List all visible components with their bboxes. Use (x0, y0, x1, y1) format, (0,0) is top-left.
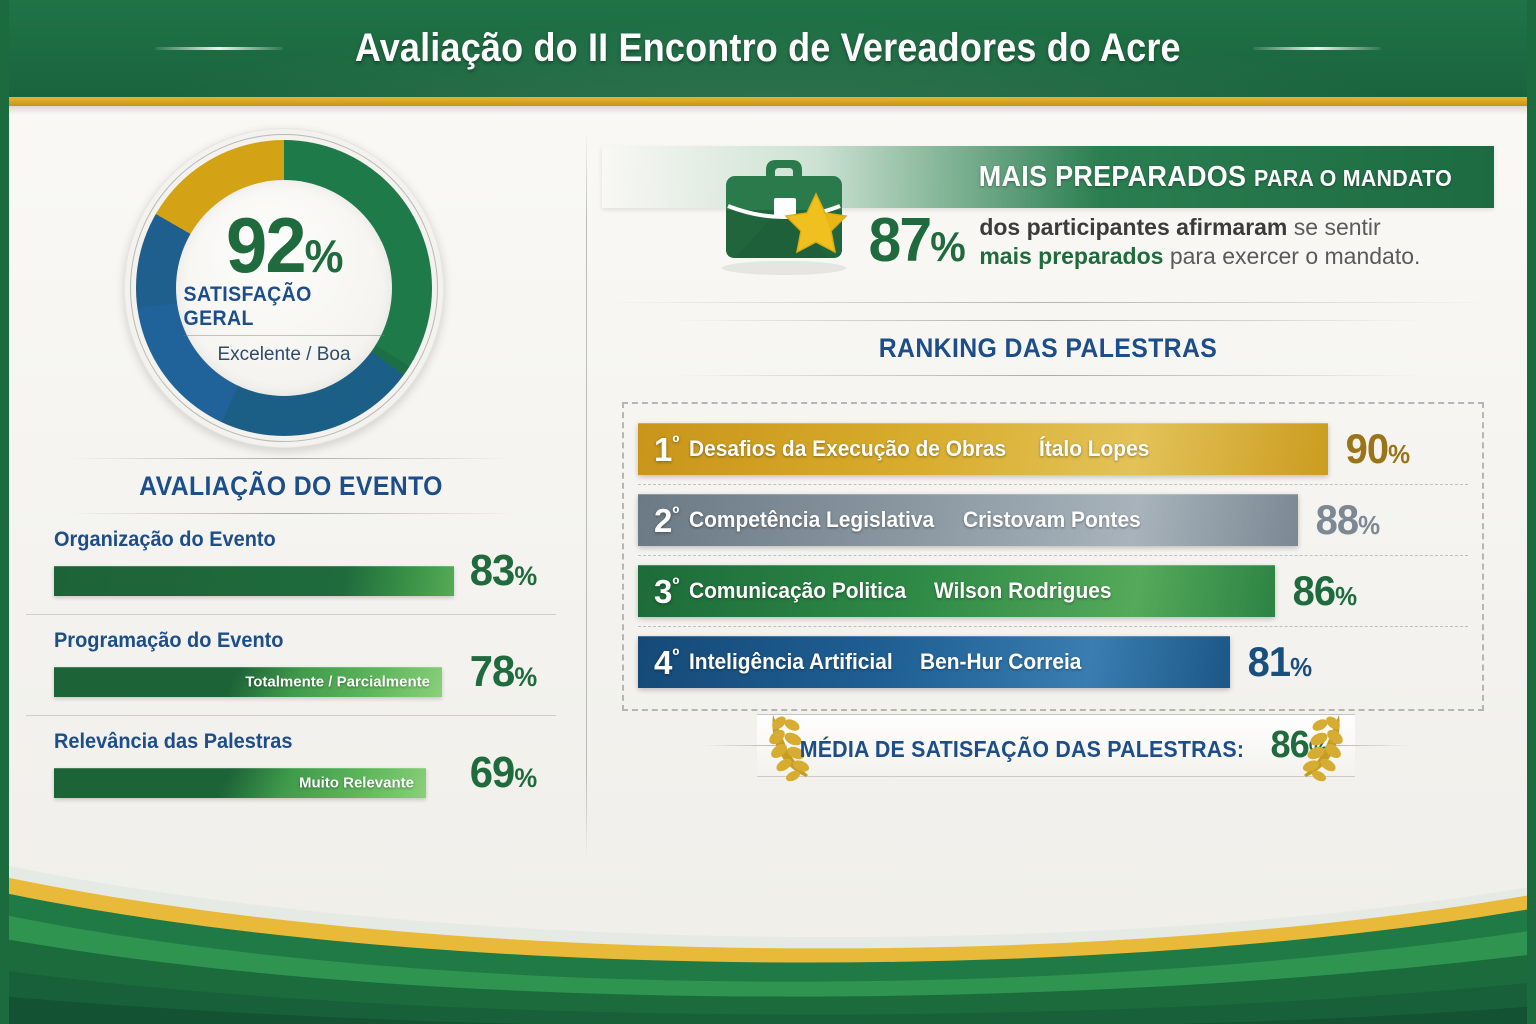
ranking-bar: 3º Comunicação Politica Wilson Rodrigues (638, 565, 1275, 617)
ranking-row: 3º Comunicação Politica Wilson Rodrigues… (638, 555, 1468, 626)
content-area: 92% SATISFAÇÃO GERAL Excelente / Boa AVA… (0, 112, 1536, 882)
ranking-lecture-title: Comunicação Politica (689, 578, 906, 604)
metric-caption: Totalmente / Parcialmente (245, 674, 430, 691)
metric-bar-fill (54, 566, 454, 596)
ranking-rule-bottom (673, 375, 1422, 376)
ranking-speaker: Wilson Rodrigues (934, 578, 1111, 604)
donut-value: 92% (226, 210, 342, 282)
average-plate: MÉDIA DE SATISFAÇÃO DAS PALESTRAS: 86% (757, 714, 1356, 777)
prepared-banner-title: MAIS PREPARADOS PARA O MANDATO (979, 161, 1452, 194)
ranking-rule-top (673, 320, 1422, 321)
metric-value: 83% (470, 549, 536, 593)
briefcase-star-icon (704, 144, 864, 276)
ranking-bar: 1º Desafios da Execução de Obras Ítalo L… (638, 423, 1328, 475)
infographic-poster: Avaliação do II Encontro de Vereadores d… (0, 0, 1536, 1024)
metric-bar-fill: Muito Relevante (54, 768, 426, 798)
ranking-row: 4º Inteligência Artificial Ben-Hur Corre… (638, 626, 1468, 697)
ranking-heading: RANKING DAS PALESTRAS (602, 320, 1494, 376)
donut-sublabel: Excelente / Boa (217, 344, 350, 366)
metric-row: Programação do Evento Totalmente / Parci… (26, 614, 556, 715)
metric-label: Organização do Evento (54, 528, 531, 552)
metric-caption: Muito Relevante (299, 775, 414, 792)
header-rule-left (155, 47, 283, 50)
metric-label: Relevância das Palestras (54, 730, 531, 754)
header-banner: Avaliação do II Encontro de Vereadores d… (0, 0, 1536, 97)
prepared-line-2: mais preparados para exercer o mandato. (979, 242, 1420, 271)
ranking-speaker: Ítalo Lopes (1039, 436, 1149, 462)
ranking-position: 2º (654, 504, 679, 537)
ranking-value: 88% (1316, 499, 1380, 541)
right-column: MAIS PREPARADOS PARA O MANDATO 87% (586, 112, 1536, 882)
ranking-lecture-title: Competência Legislativa (689, 507, 934, 533)
ranking-position: 3º (654, 575, 679, 608)
prepared-statistic: 87% dos participantes afirmaram se senti… (866, 210, 1420, 272)
ranking-title: RANKING DAS PALESTRAS (638, 333, 1459, 364)
metric-label: Programação do Evento (54, 629, 531, 653)
ranking-row: 2º Competência Legislativa Cristovam Pon… (638, 484, 1468, 555)
metric-row: Organização do Evento 83% (26, 514, 556, 614)
average-label: MÉDIA DE SATISFAÇÃO DAS PALESTRAS: (799, 736, 1243, 763)
ranking-lecture-title: Desafios da Execução de Obras (689, 436, 1006, 462)
header-rule-right (1253, 47, 1381, 50)
satisfaction-donut-chart: 92% SATISFAÇÃO GERAL Excelente / Boa (124, 128, 444, 448)
prepared-separator (602, 302, 1494, 303)
ranking-speaker: Ben-Hur Correia (920, 649, 1081, 675)
metric-bar-track: Totalmente / Parcialmente (54, 667, 454, 697)
bottom-wave-decoration (0, 834, 1536, 1024)
donut-label: SATISFAÇÃO GERAL (184, 283, 385, 336)
ranking-speaker: Cristovam Pontes (963, 507, 1141, 533)
ranking-row: 1º Desafios da Execução de Obras Ítalo L… (638, 414, 1468, 484)
metric-bar-track: Muito Relevante (54, 768, 454, 798)
metric-value: 78% (470, 650, 536, 694)
laurel-branch-icon (1296, 707, 1350, 783)
heading-rule-top (68, 458, 513, 459)
header-shadow (0, 106, 1536, 115)
metric-bar-fill: Totalmente / Parcialmente (54, 667, 442, 697)
donut-center: 92% SATISFAÇÃO GERAL Excelente / Boa (176, 180, 392, 396)
ranking-value: 81% (1248, 641, 1312, 683)
ranking-lecture-title: Inteligência Artificial (689, 649, 893, 675)
edge-stripe-left (0, 0, 9, 1024)
event-evaluation-heading: AVALIAÇÃO DO EVENTO (26, 458, 556, 514)
metric-row: Relevância das Palestras Muito Relevante… (26, 715, 556, 816)
edge-stripe-right (1527, 0, 1536, 1024)
ranking-position: 4º (654, 646, 679, 679)
ranking-value: 90% (1346, 428, 1410, 470)
metric-value: 69% (470, 751, 536, 795)
average-satisfaction-footer: MÉDIA DE SATISFAÇÃO DAS PALESTRAS: 86% (756, 707, 1356, 783)
ranking-bar: 2º Competência Legislativa Cristovam Pon… (638, 494, 1298, 546)
metric-bar-track (54, 566, 454, 596)
prepared-description: dos participantes afirmaram se sentir ma… (979, 213, 1420, 272)
prepared-line-1: dos participantes afirmaram se sentir (979, 213, 1420, 242)
event-evaluation-section: AVALIAÇÃO DO EVENTO Organização do Event… (26, 458, 556, 816)
ranking-value: 86% (1293, 570, 1357, 612)
event-evaluation-title: AVALIAÇÃO DO EVENTO (47, 471, 535, 502)
ranking-bar: 4º Inteligência Artificial Ben-Hur Corre… (638, 636, 1230, 688)
header-gold-border (0, 97, 1536, 106)
page-title: Avaliação do II Encontro de Vereadores d… (355, 26, 1181, 71)
prepared-value: 87% (869, 210, 964, 272)
ranking-list: 1º Desafios da Execução de Obras Ítalo L… (622, 402, 1484, 711)
ranking-position: 1º (654, 433, 679, 466)
left-column: 92% SATISFAÇÃO GERAL Excelente / Boa AVA… (0, 112, 586, 882)
